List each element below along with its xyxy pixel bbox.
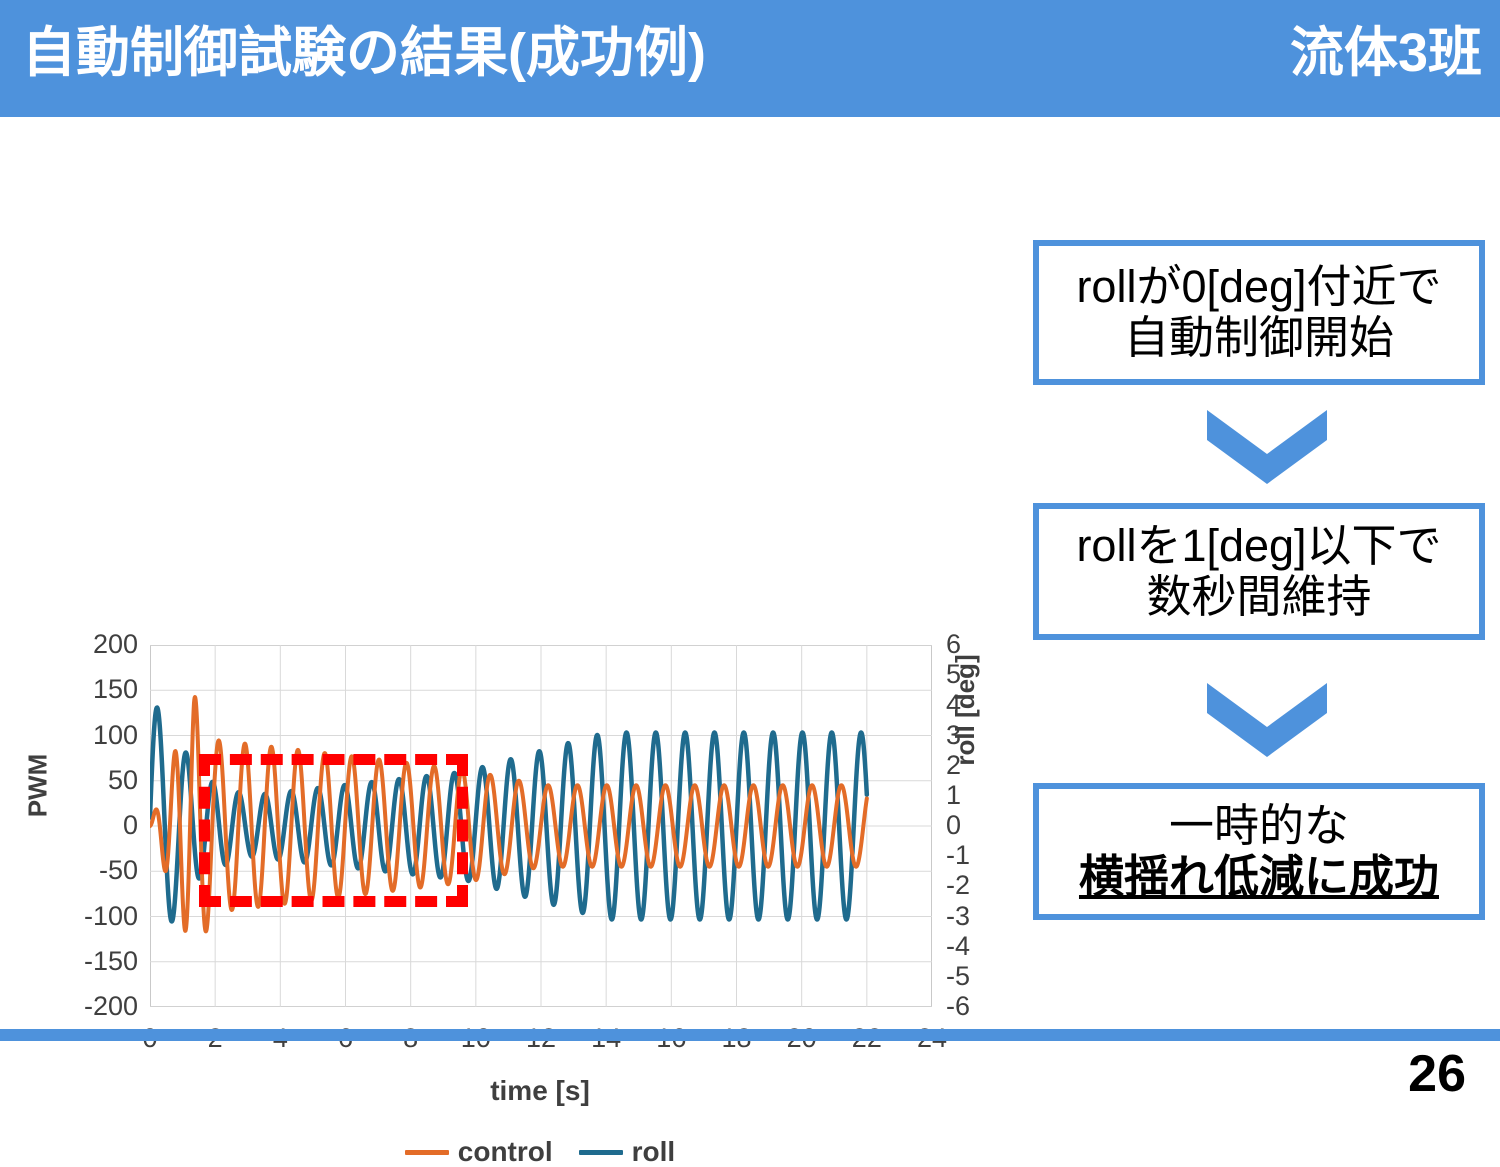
- page-title: 自動制御試験の結果(成功例): [22, 26, 706, 80]
- chevron-down-icon: [1207, 683, 1327, 757]
- footer-rule: [0, 1029, 1500, 1041]
- y-axis-right-tick: -4: [946, 933, 986, 960]
- legend-label-roll: roll: [632, 1138, 676, 1166]
- y-axis-left-tick: 0: [0, 812, 138, 839]
- chart: 200150100500-50-100-150-200 6543210-1-2-…: [0, 300, 1000, 900]
- y-axis-left-tick: 200: [0, 631, 138, 658]
- highlight-box: [199, 754, 468, 908]
- legend-label-control: control: [458, 1138, 553, 1166]
- chart-legend: control roll: [330, 1138, 750, 1166]
- legend-swatch-control: [405, 1150, 449, 1155]
- y-axis-left-tick: -50: [0, 857, 138, 884]
- x-axis-title: time [s]: [330, 1075, 750, 1107]
- y-axis-left-title: PWM: [23, 726, 54, 846]
- y-axis-left-tick: -150: [0, 948, 138, 975]
- callout-start-line-1: rollが0[deg]付近で: [1076, 262, 1441, 312]
- callout-result-line-1: 一時的な: [1169, 801, 1349, 851]
- y-axis-left-tick: -100: [0, 903, 138, 930]
- y-axis-right-tick: -2: [946, 872, 986, 899]
- callout-hold: rollを1[deg]以下で 数秒間維持: [1033, 503, 1485, 640]
- y-axis-right-tick: -3: [946, 903, 986, 930]
- callout-start-line-2: 自動制御開始: [1124, 313, 1394, 363]
- callout-result-line-2: 横揺れ低減に成功: [1079, 852, 1439, 902]
- y-axis-left-tick: 100: [0, 722, 138, 749]
- y-axis-right-tick: -1: [946, 842, 986, 869]
- chevron-down-icon: [1207, 410, 1327, 484]
- callout-hold-line-1: rollを1[deg]以下で: [1076, 521, 1441, 571]
- y-axis-left-tick: 150: [0, 676, 138, 703]
- callout-result: 一時的な 横揺れ低減に成功: [1033, 783, 1485, 920]
- y-axis-right-title: roll [deg]: [950, 630, 981, 790]
- callout-hold-line-2: 数秒間維持: [1146, 572, 1371, 622]
- y-axis-left-tick: 50: [0, 767, 138, 794]
- y-axis-right-tick: 0: [946, 812, 986, 839]
- callout-start: rollが0[deg]付近で 自動制御開始: [1033, 240, 1485, 385]
- y-axis-right-tick: -5: [946, 963, 986, 990]
- group-name: 流体3班: [1290, 26, 1482, 80]
- slide: 自動制御試験の結果(成功例) 流体3班 200150100500-50-100-…: [0, 0, 1500, 1125]
- y-axis-right-tick: -6: [946, 993, 986, 1020]
- legend-item-roll: roll: [579, 1138, 676, 1166]
- page-number: 26: [1408, 1048, 1466, 1100]
- legend-item-control: control: [405, 1138, 553, 1166]
- y-axis-left-tick: -200: [0, 993, 138, 1020]
- legend-swatch-roll: [579, 1150, 623, 1155]
